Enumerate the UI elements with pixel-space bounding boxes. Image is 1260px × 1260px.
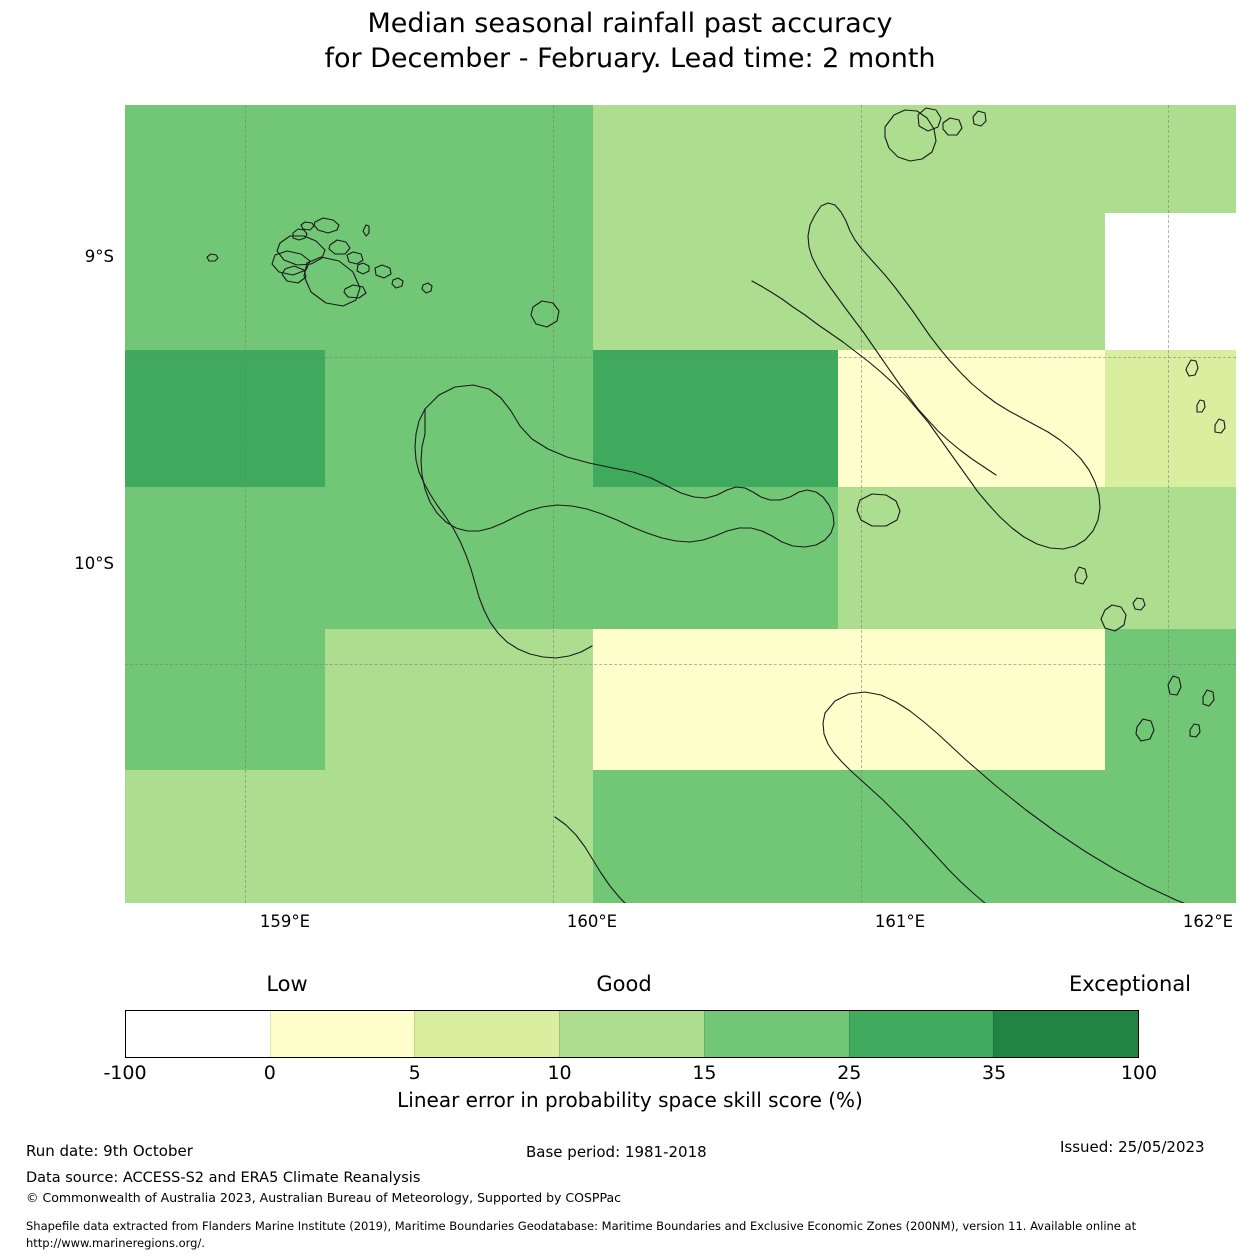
footer-shapefile-attribution: Shapefile data extracted from Flanders M… (26, 1218, 1136, 1252)
y-axis-tick-10s: 10°S (74, 554, 114, 573)
page-title: Median seasonal rainfall past accuracy f… (0, 6, 1260, 76)
colorbar-segment-3 (559, 1011, 704, 1057)
colorbar-segment-5 (849, 1011, 994, 1057)
heatmap-cell (838, 350, 1106, 488)
heatmap-cell (1105, 487, 1236, 629)
heatmap-cell (125, 770, 326, 903)
heatmap-cell (593, 629, 839, 771)
map-heatmap-plot[interactable] (125, 105, 1236, 903)
x-axis-tick-162e: 162°E (1148, 912, 1260, 931)
colorbar-tick-label: 5 (355, 1062, 475, 1084)
heatmap-cell (1105, 105, 1236, 214)
heatmap-cell (125, 213, 326, 351)
colorbar-tick-label: 0 (210, 1062, 330, 1084)
gridline-vertical (553, 105, 555, 903)
heatmap-cell (593, 105, 839, 214)
y-axis-tick-9s: 9°S (85, 247, 114, 266)
heatmap-cell (593, 487, 839, 629)
colorbar-category-good: Good (504, 972, 744, 996)
gridline-vertical (1168, 105, 1170, 903)
colorbar-segment-1 (270, 1011, 415, 1057)
colorbar-segment-2 (414, 1011, 559, 1057)
x-axis-tick-159e: 159°E (225, 912, 345, 931)
heatmap-cell (838, 105, 1106, 214)
gridline-horizontal (125, 357, 1236, 359)
heatmap-cell (1105, 629, 1236, 771)
heatmap-cell (1105, 350, 1236, 488)
x-axis-tick-160e: 160°E (532, 912, 652, 931)
colorbar-tick-label: 25 (789, 1062, 909, 1084)
heatmap-cell (838, 487, 1106, 629)
footer-copyright: © Commonwealth of Australia 2023, Austra… (26, 1190, 621, 1205)
colorbar-axis-label: Linear error in probability space skill … (0, 1088, 1260, 1112)
heatmap-cell (838, 770, 1106, 903)
colorbar-tick-label: 15 (644, 1062, 764, 1084)
gridline-vertical (861, 105, 863, 903)
heatmap-cell (125, 105, 326, 214)
heatmap-cell (593, 213, 839, 351)
colorbar-segment-4 (704, 1011, 849, 1057)
heatmap-cell (593, 770, 839, 903)
x-axis-tick-161e: 161°E (840, 912, 960, 931)
footer-run-date: Run date: 9th October (26, 1142, 193, 1160)
gridline-horizontal (125, 664, 1236, 666)
heatmap-cell (838, 213, 1106, 351)
colorbar-wrapper: -1000510152535100 (125, 1010, 1139, 1058)
heatmap-cell (125, 629, 326, 771)
colorbar-category-low: Low (167, 972, 407, 996)
footer-base-period: Base period: 1981-2018 (526, 1143, 707, 1161)
colorbar-segment-0 (126, 1011, 270, 1057)
heatmap-cell (593, 350, 839, 488)
colorbar-tick-label: 35 (934, 1062, 1054, 1084)
heatmap-cell (125, 350, 326, 488)
colorbar-segment-6 (993, 1011, 1138, 1057)
footer-data-source: Data source: ACCESS-S2 and ERA5 Climate … (26, 1170, 420, 1186)
heatmap-cell (1105, 213, 1236, 351)
colorbar-tick-label: 10 (500, 1062, 620, 1084)
colorbar-tick-label: -100 (65, 1062, 185, 1084)
colorbar-tick-label: 100 (1079, 1062, 1199, 1084)
heatmap-cell (125, 487, 326, 629)
heatmap-cell (838, 629, 1106, 771)
heatmap-cell (1105, 770, 1236, 903)
gridline-vertical (245, 105, 247, 903)
colorbar-category-exceptional: Exceptional (1010, 972, 1250, 996)
footer-issued-date: Issued: 25/05/2023 (1060, 1138, 1205, 1156)
colorbar[interactable] (125, 1010, 1139, 1058)
